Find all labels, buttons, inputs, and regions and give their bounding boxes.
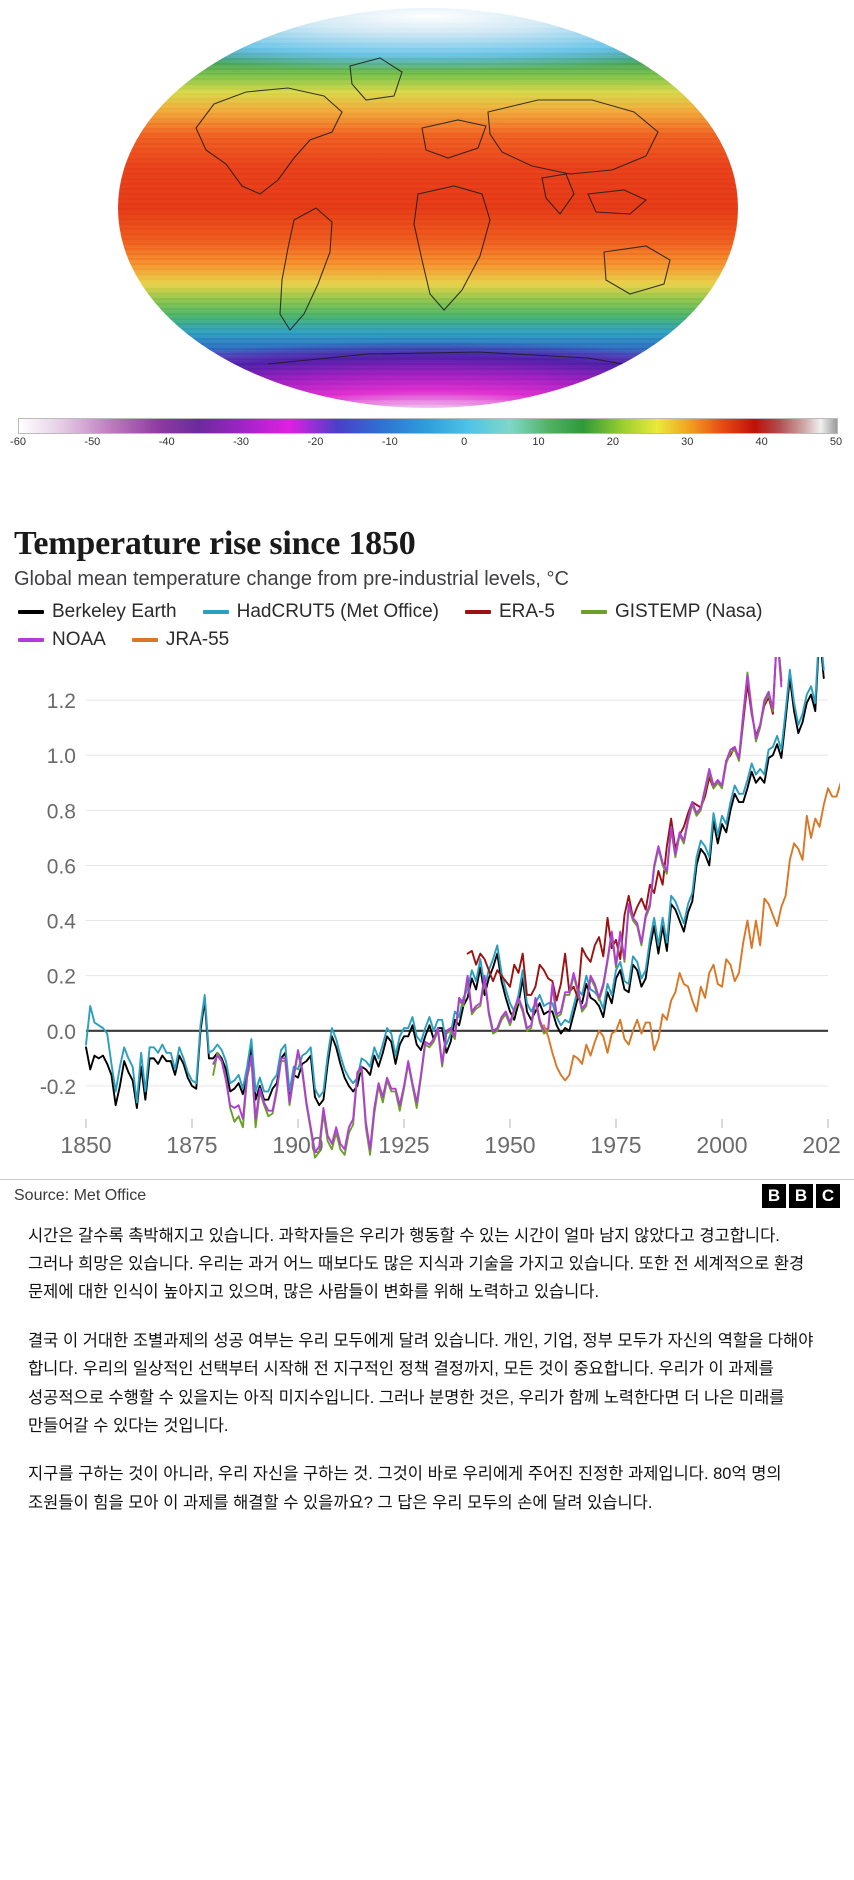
bbc-logo-letter: B — [762, 1184, 786, 1208]
y-axis-tick-label: 0.4 — [47, 910, 77, 933]
legend-item-gistemp-nasa[interactable]: GISTEMP (Nasa) — [581, 601, 762, 623]
colorbar-tick-labels: -60-50-40-30-20-1001020304050 — [18, 434, 836, 456]
x-axis-tick-label: 1975 — [590, 1132, 641, 1158]
colorbar-tick: -40 — [159, 436, 175, 448]
legend-item-jra-55[interactable]: JRA-55 — [132, 629, 229, 651]
x-axis-tick-label: 1950 — [484, 1132, 535, 1158]
colorbar-tick: 30 — [681, 436, 693, 448]
x-axis-tick-label: 1925 — [378, 1132, 429, 1158]
chart-plot-area: -0.20.00.20.40.60.81.01.2185018751900192… — [14, 657, 840, 1177]
article-paragraph: 지구를 구하는 것이 아니라, 우리 자신을 구하는 것. 그것이 바로 우리에… — [28, 1460, 826, 1517]
legend-item-era-5[interactable]: ERA-5 — [465, 601, 555, 623]
colorbar-tick: -20 — [308, 436, 324, 448]
legend-swatch-icon — [465, 610, 491, 614]
y-axis-tick-label: 1.2 — [47, 690, 76, 713]
legend-label: JRA-55 — [166, 629, 229, 651]
legend-swatch-icon — [18, 638, 44, 642]
globe-projection — [0, 0, 854, 470]
y-axis-tick-label: 0.8 — [47, 800, 76, 823]
colorbar-tick: 0 — [461, 436, 467, 448]
legend-swatch-icon — [132, 638, 158, 642]
chart-legend: Berkeley EarthHadCRUT5 (Met Office)ERA-5… — [18, 601, 840, 651]
x-axis-tick-label: 2025 — [802, 1132, 840, 1158]
temperature-chart: Temperature rise since 1850 Global mean … — [0, 520, 854, 1212]
y-axis-tick-label: 0.0 — [47, 1021, 76, 1044]
bbc-logo-letter: C — [816, 1184, 840, 1208]
series-line — [213, 657, 781, 1158]
chart-footer: Source: Met Office BBC — [0, 1179, 854, 1212]
legend-swatch-icon — [203, 610, 229, 614]
article-paragraph: 시간은 갈수록 촉박해지고 있습니다. 과학자들은 우리가 행동할 수 있는 시… — [28, 1222, 826, 1307]
y-axis-tick-label: 0.2 — [47, 965, 76, 988]
colorbar-gradient — [18, 418, 838, 434]
source-label: Source: Met Office — [14, 1187, 146, 1205]
article-body: 시간은 갈수록 촉박해지고 있습니다. 과학자들은 우리가 행동할 수 있는 시… — [0, 1212, 854, 1543]
bbc-logo-letter: B — [789, 1184, 813, 1208]
colorbar-tick: 40 — [756, 436, 768, 448]
colorbar-tick: -50 — [84, 436, 100, 448]
legend-label: ERA-5 — [499, 601, 555, 623]
colorbar-tick: 50 — [830, 436, 842, 448]
x-axis-tick-label: 1900 — [272, 1132, 323, 1158]
article-paragraph: 결국 이 거대한 조별과제의 성공 여부는 우리 모두에게 달려 있습니다. 개… — [28, 1327, 826, 1441]
y-axis-tick-label: 0.6 — [47, 855, 76, 878]
x-axis-tick-label: 1850 — [60, 1132, 111, 1158]
temperature-field — [118, 8, 738, 408]
temperature-colorbar: -60-50-40-30-20-1001020304050 — [18, 418, 836, 456]
chart-title: Temperature rise since 1850 — [14, 526, 840, 563]
legend-item-hadcrut5-met-office[interactable]: HadCRUT5 (Met Office) — [203, 601, 439, 623]
legend-swatch-icon — [581, 610, 607, 614]
legend-item-noaa[interactable]: NOAA — [18, 629, 106, 651]
global-temperature-map: -60-50-40-30-20-1001020304050 — [0, 0, 854, 520]
legend-label: Berkeley Earth — [52, 601, 177, 623]
y-axis-tick-label: -0.2 — [40, 1076, 76, 1099]
coastline-overlay — [118, 8, 738, 408]
colorbar-tick: 10 — [532, 436, 544, 448]
series-line — [86, 657, 824, 1108]
legend-label: HadCRUT5 (Met Office) — [237, 601, 439, 623]
legend-label: NOAA — [52, 629, 106, 651]
y-axis-tick-label: 1.0 — [47, 745, 76, 768]
bbc-logo: BBC — [762, 1184, 840, 1208]
legend-swatch-icon — [18, 610, 44, 614]
x-axis-tick-label: 2000 — [696, 1132, 747, 1158]
x-axis-tick-label: 1875 — [166, 1132, 217, 1158]
chart-subtitle: Global mean temperature change from pre-… — [14, 567, 840, 591]
colorbar-tick: -10 — [382, 436, 398, 448]
colorbar-tick: -30 — [233, 436, 249, 448]
colorbar-tick: -60 — [10, 436, 26, 448]
colorbar-tick: 20 — [607, 436, 619, 448]
legend-item-berkeley-earth[interactable]: Berkeley Earth — [18, 601, 177, 623]
legend-label: GISTEMP (Nasa) — [615, 601, 762, 623]
